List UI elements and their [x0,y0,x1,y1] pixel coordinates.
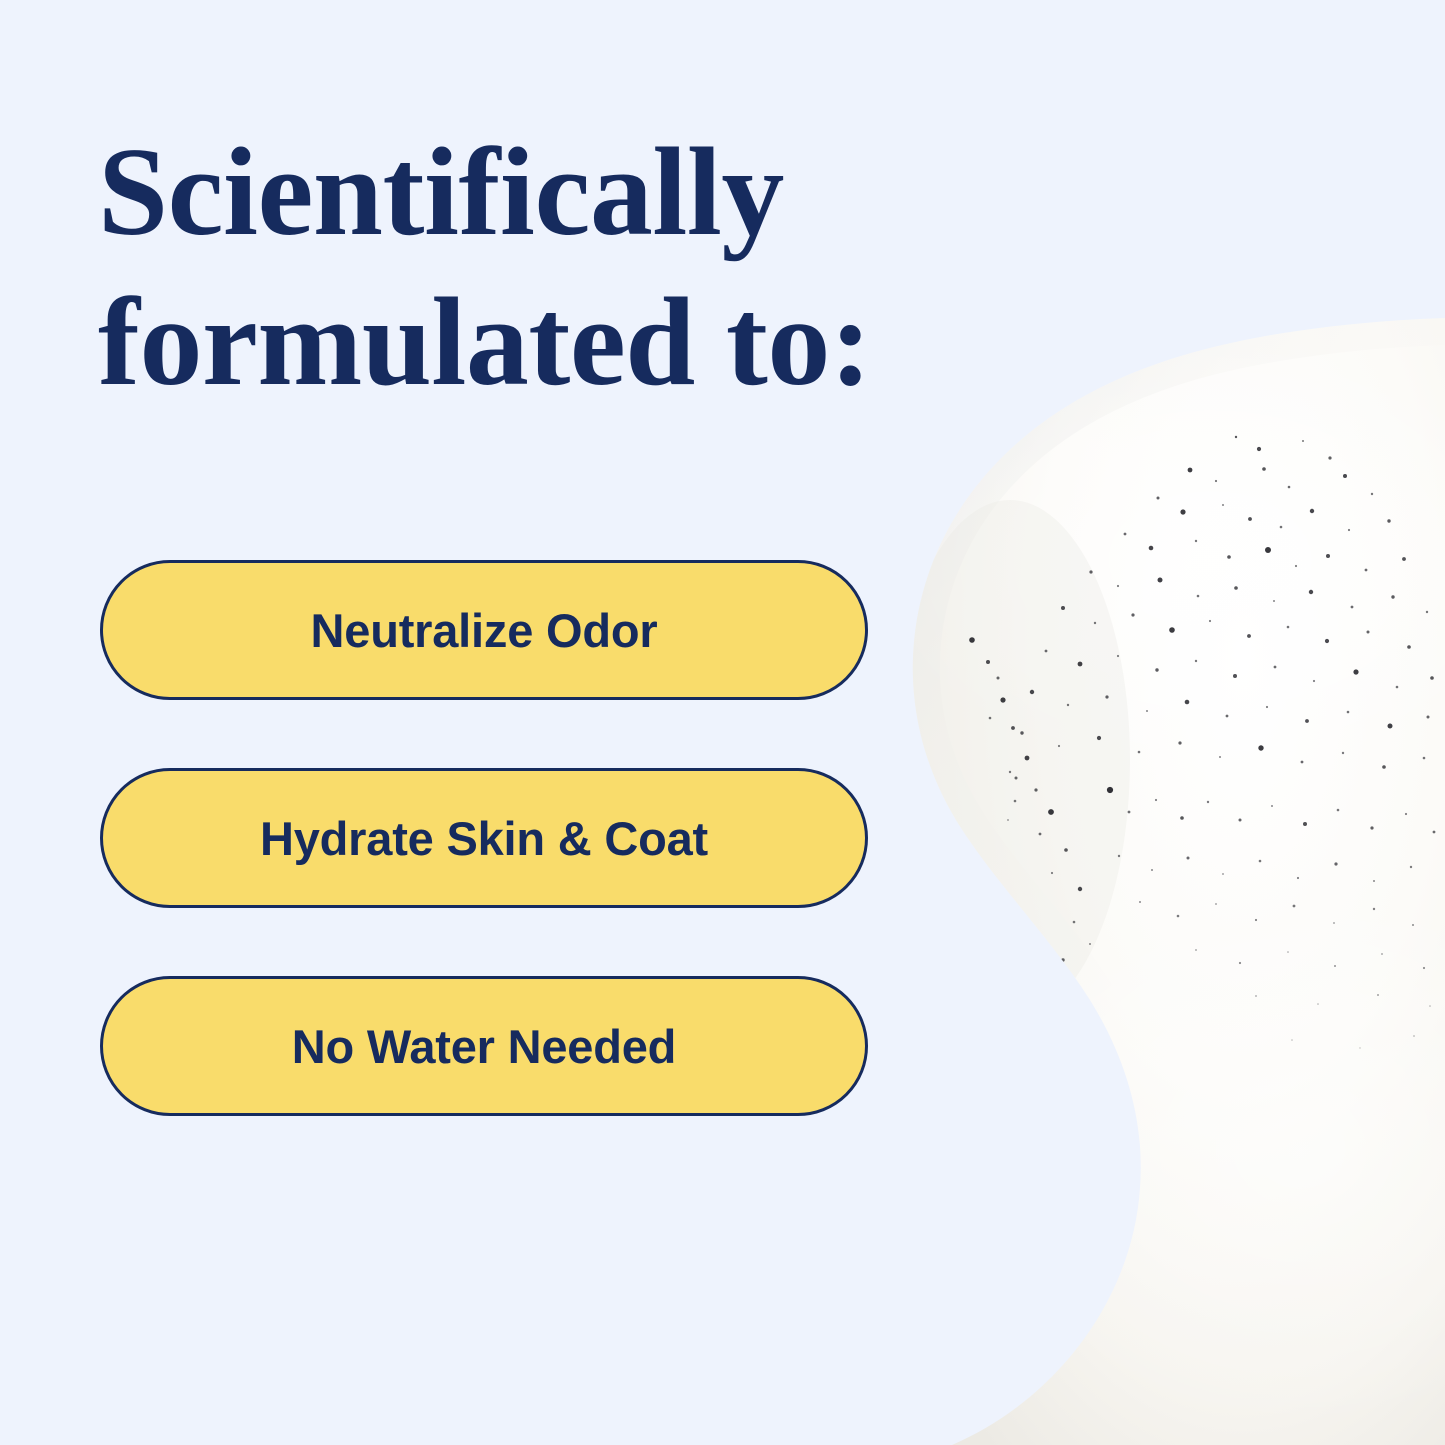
benefit-pill-neutralize-odor[interactable]: Neutralize Odor [100,560,868,700]
benefit-label: Neutralize Odor [311,607,658,654]
benefit-pill-hydrate-skin-coat[interactable]: Hydrate Skin & Coat [100,768,868,908]
benefits-list: Neutralize Odor Hydrate Skin & Coat No W… [100,560,868,1116]
benefit-label: No Water Needed [292,1023,676,1070]
product-benefits-poster: Scientifically formulated to: Neutralize… [0,0,1445,1445]
page-title: Scientifically formulated to: [98,118,978,418]
benefit-pill-no-water-needed[interactable]: No Water Needed [100,976,868,1116]
benefit-label: Hydrate Skin & Coat [260,815,708,862]
